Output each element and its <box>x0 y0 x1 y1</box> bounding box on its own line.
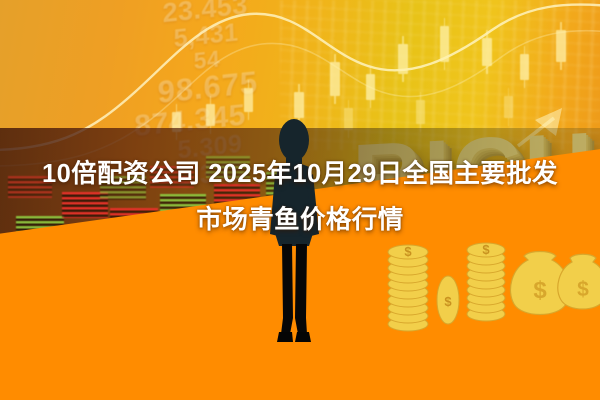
candlestick <box>556 30 566 62</box>
candlestick <box>520 54 529 80</box>
title-line-2: 市场青鱼价格行情 <box>0 197 600 243</box>
candlestick <box>482 38 492 66</box>
candlestick <box>294 92 304 118</box>
svg-text:$: $ <box>404 244 412 259</box>
page-title: 10倍配资公司 2025年10月29日全国主要批发 市场青鱼价格行情 <box>0 151 600 243</box>
svg-text:$: $ <box>444 294 452 309</box>
coin-upright-icon: $ <box>437 276 459 324</box>
title-line-1: 10倍配资公司 2025年10月29日全国主要批发 <box>42 160 558 188</box>
candlestick <box>206 104 215 126</box>
svg-text:$: $ <box>482 242 490 257</box>
svg-text:$: $ <box>533 277 547 304</box>
candlestick <box>440 26 449 62</box>
coin-stack-icon: $ <box>388 244 428 331</box>
candlestick <box>398 44 408 74</box>
svg-text:$: $ <box>577 278 589 301</box>
money-bag-icon: $ <box>558 254 600 309</box>
banner-image: 23.453 5,431 54 98.675 874.345 5.309 2.3… <box>0 0 600 400</box>
candlestick <box>244 88 253 112</box>
money-decor: $ $ $ $ $ <box>374 232 600 342</box>
coin-stack-icon: $ <box>467 242 505 321</box>
